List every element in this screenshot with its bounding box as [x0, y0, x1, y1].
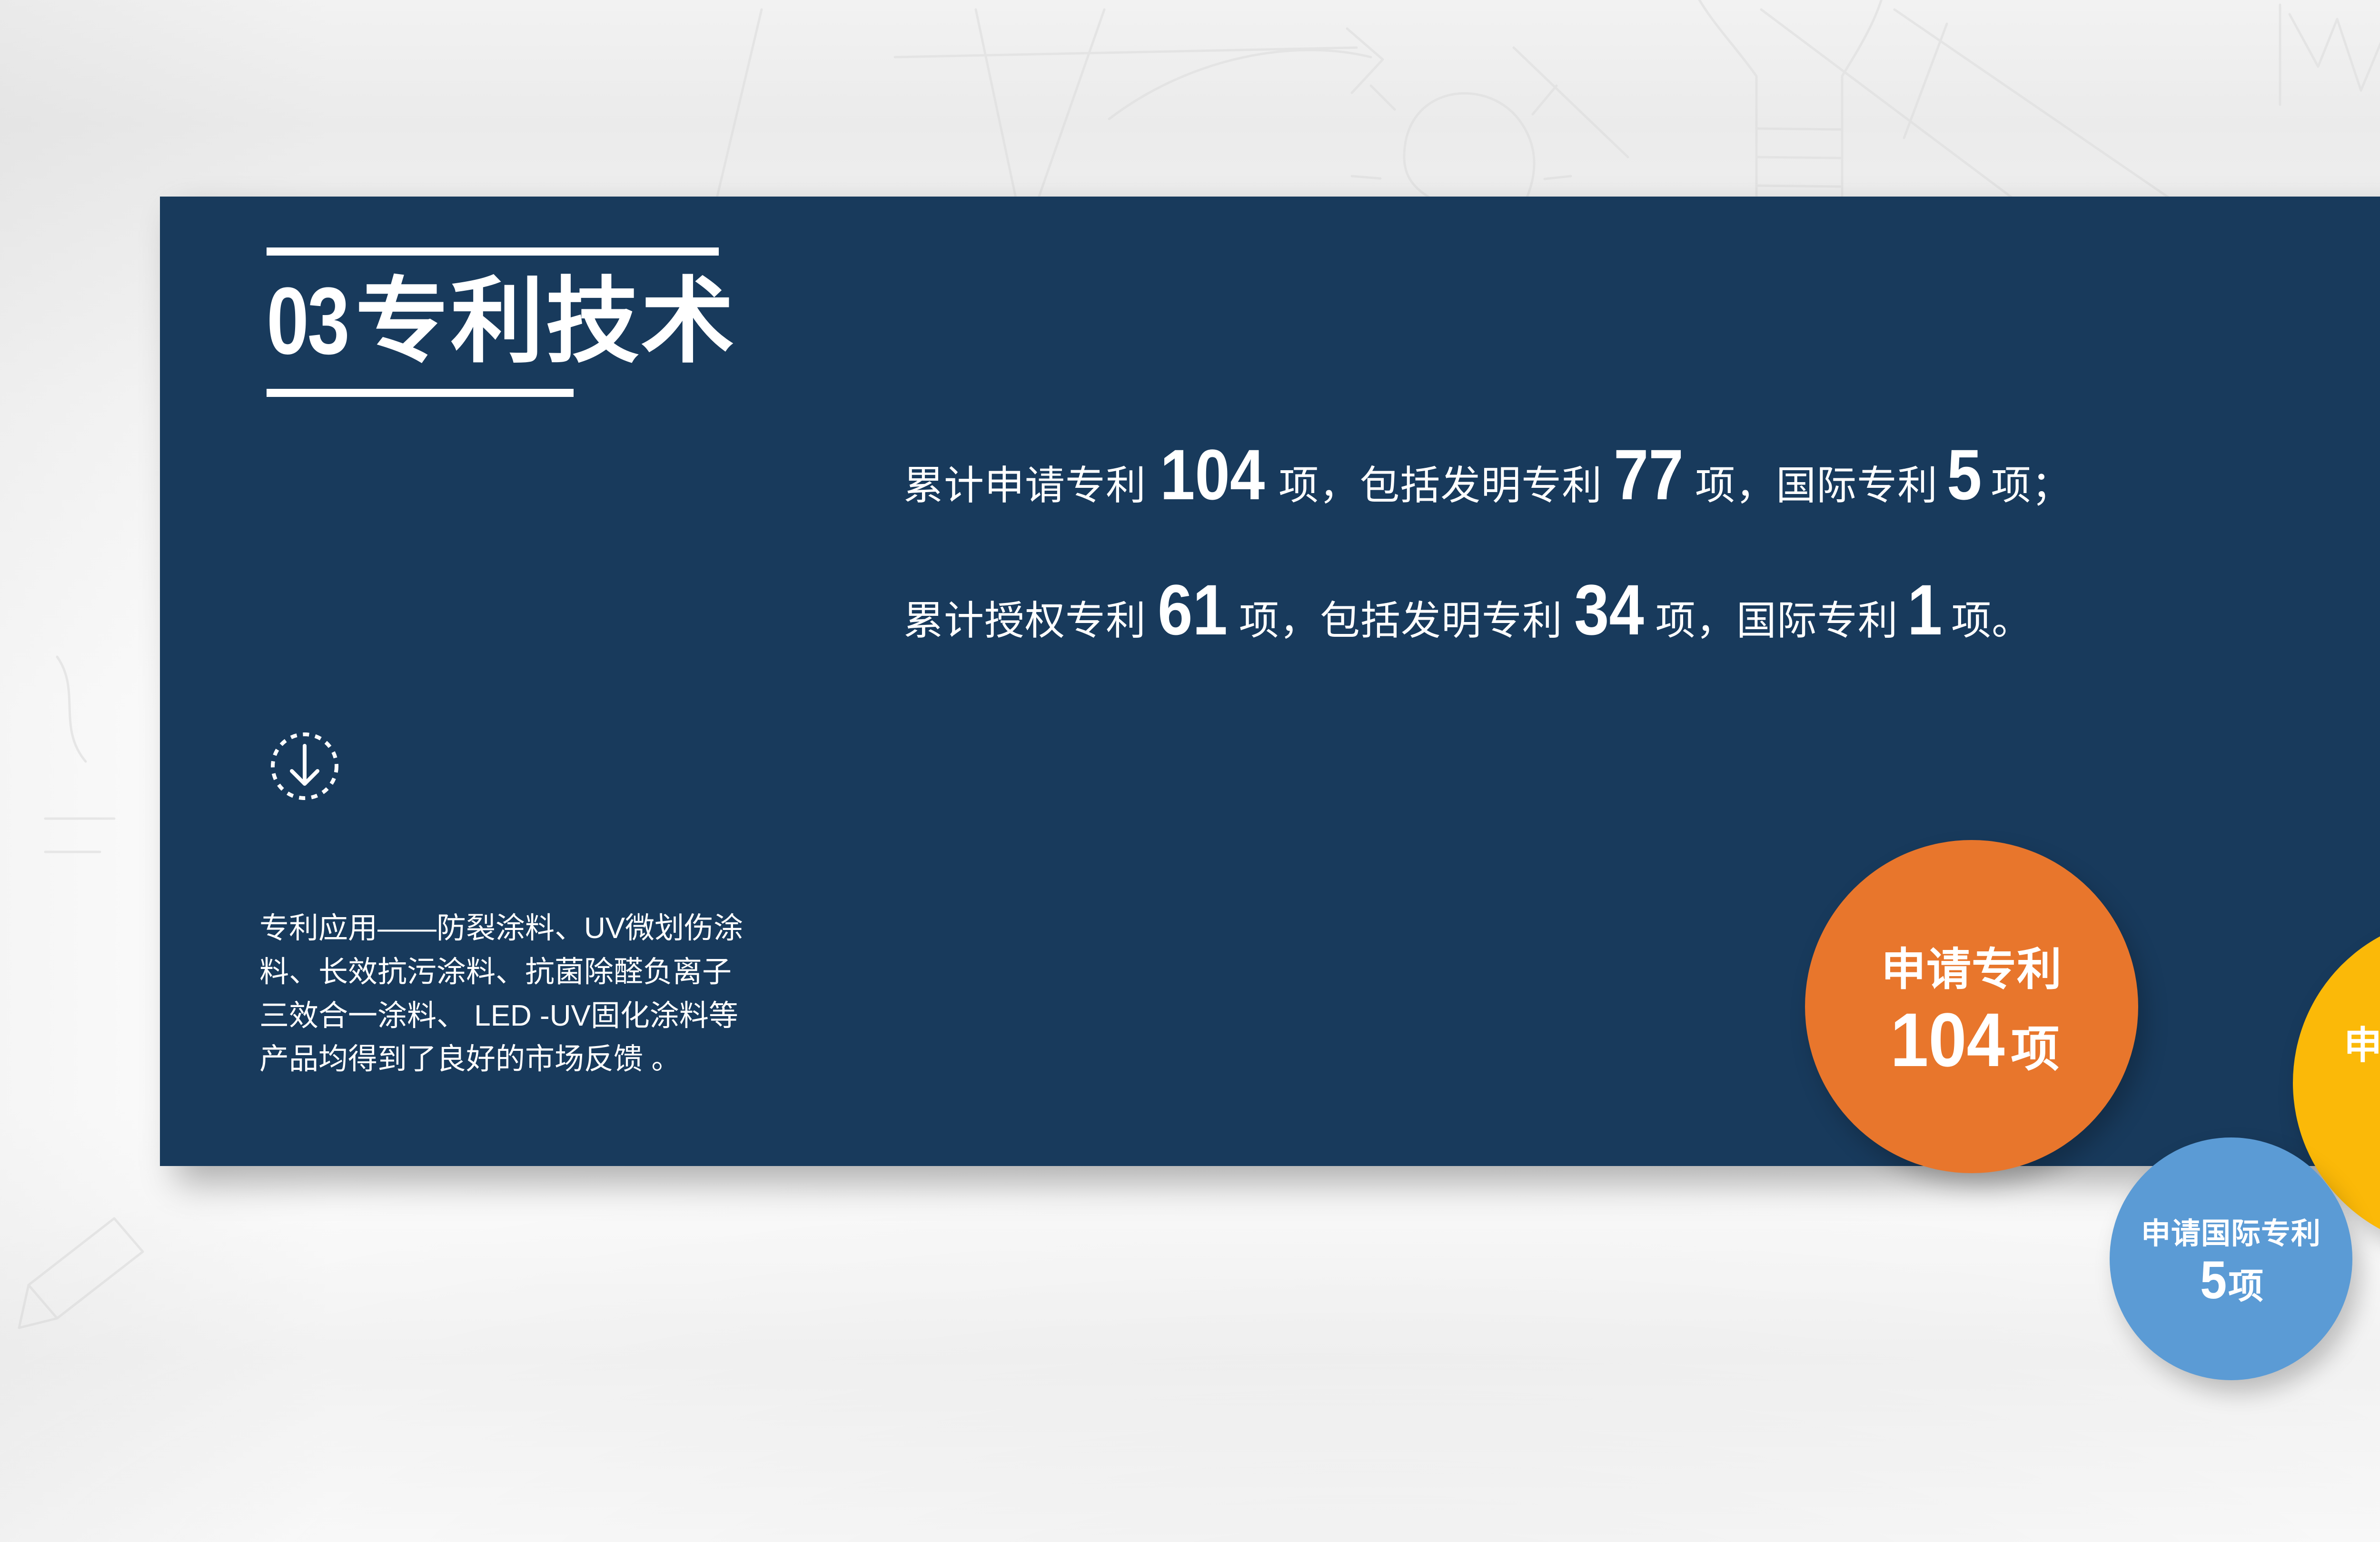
- stat-number: 77: [1608, 443, 1689, 507]
- stat-text: 累计申请专利: [903, 454, 1146, 511]
- stat-number: 5: [1941, 443, 1988, 507]
- down-arrow-dashed-circle-icon: [269, 731, 340, 802]
- note-line: 三效合一涂料、 LED -UV固化涂料等: [259, 994, 864, 1038]
- section-number: 03: [267, 274, 348, 369]
- bubble-unit: 项: [2228, 1258, 2263, 1309]
- page-title: 03 专利技术: [267, 274, 736, 369]
- stat-text: 项；: [1991, 454, 2072, 511]
- stat-number: 34: [1568, 578, 1650, 642]
- stat-number: 1: [1901, 578, 1948, 642]
- section-title: 专利技术: [355, 275, 736, 368]
- bubble-applied-patents[interactable]: 申请专利 104 项: [1805, 840, 2138, 1173]
- bubble-number: 104: [1890, 1004, 2004, 1076]
- patent-statistics: 累计申请专利 104 项，包括发明专利 77 项，国际专利 5 项； 累计授权专…: [903, 443, 2072, 646]
- stat-line-granted: 累计授权专利 61 项，包括发明专利 34 项，国际专利 1 项。: [903, 578, 2072, 646]
- stat-text: 项。: [1951, 589, 2032, 646]
- bubble-unit: 项: [2011, 1010, 2059, 1080]
- section-title-block: 03 专利技术: [267, 247, 736, 397]
- note-line: 料、长效抗污涂料、抗菌除醛负离子: [259, 950, 864, 994]
- stat-text: 项，包括发明专利: [1279, 454, 1602, 511]
- note-line: 专利应用——防裂涂料、UV微划伤涂: [259, 907, 864, 950]
- title-rule-top: [267, 247, 719, 256]
- stat-number: 61: [1152, 578, 1233, 642]
- bubble-value: 104 项: [1884, 1004, 2060, 1080]
- stat-text: 项，包括发明专利: [1239, 589, 1563, 646]
- stat-number: 104: [1154, 443, 1271, 507]
- stat-text: 项，国际专利: [1656, 589, 1898, 646]
- bubble-label: 申请专利: [1881, 933, 2062, 998]
- bubble-label: 申请国际专利: [2141, 1209, 2321, 1252]
- note-line: 产品均得到了良好的市场反馈 。: [259, 1038, 864, 1081]
- bubble-value: 5 项: [2199, 1255, 2263, 1309]
- stat-text: 项，国际专利: [1695, 454, 1938, 511]
- bubble-label: 申请发明专利: [2344, 1015, 2380, 1070]
- stat-line-applied: 累计申请专利 104 项，包括发明专利 77 项，国际专利 5 项；: [903, 443, 2072, 511]
- bubble-applied-international-patents[interactable]: 申请国际专利 5 项: [2110, 1137, 2352, 1380]
- title-rule-bottom: [267, 389, 574, 397]
- stat-text: 累计授权专利: [903, 589, 1146, 646]
- bubble-number: 5: [2200, 1255, 2227, 1305]
- patent-application-note: 专利应用——防裂涂料、UV微划伤涂 料、长效抗污涂料、抗菌除醛负离子 三效合一涂…: [259, 907, 864, 1081]
